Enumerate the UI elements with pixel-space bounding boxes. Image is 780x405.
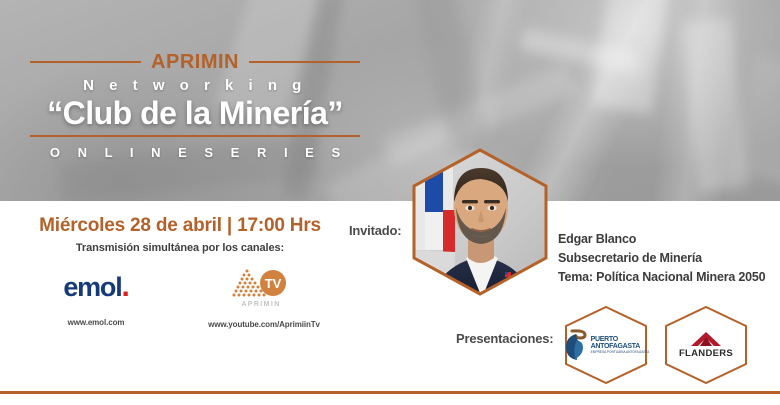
puerto-antofagasta-logo-icon: PUERTO ANTOFAGASTA EMPRESA PORTUARIA ANT… xyxy=(563,328,650,362)
guest-role: Subsecretario de Minería xyxy=(558,249,765,268)
aprimin-tv-logo-icon: TV APRIMIN xyxy=(221,266,307,310)
sponsor-logo-wrap: FLANDERS xyxy=(662,305,750,385)
sponsor-list: PUERTO ANTOFAGASTA EMPRESA PORTUARIA ANT… xyxy=(562,305,750,385)
sponsor-logo-wrap: PUERTO ANTOFAGASTA EMPRESA PORTUARIA ANT… xyxy=(562,305,650,385)
simulcast-note: Transmisión simultánea por los canales: xyxy=(0,242,360,254)
brand-row: APRIMIN xyxy=(30,52,360,72)
aprimin-tv-url[interactable]: www.youtube.com/AprimiinTv xyxy=(208,320,320,329)
guest-topic: Tema: Política Nacional Minera 2050 xyxy=(558,268,765,287)
bottom-accent-rule xyxy=(0,391,780,394)
brand-rule-left xyxy=(30,61,141,63)
header-kicker: N e t w o r k i n g xyxy=(30,78,360,95)
guest-label: Invitado: xyxy=(349,223,401,238)
guest-info: Edgar Blanco Subsecretario de Minería Te… xyxy=(558,230,765,286)
event-details-panel: Miércoles 28 de abril | 17:00 Hrs Transm… xyxy=(0,215,360,329)
emol-url[interactable]: www.emol.com xyxy=(68,318,125,327)
header-subtitle: O N L I N E S E R I E S xyxy=(30,145,360,160)
svg-text:APRIMIN: APRIMIN xyxy=(241,301,280,308)
portrait-photo xyxy=(404,146,556,298)
channel-list: emol. www.emol.com xyxy=(0,266,360,329)
flanders-wordmark: FLANDERS xyxy=(679,348,733,359)
event-date-time: Miércoles 28 de abril | 17:00 Hrs xyxy=(0,215,360,237)
channel-emol[interactable]: emol. www.emol.com xyxy=(36,266,156,327)
presentations-label: Presentaciones: xyxy=(456,331,553,346)
channel-aprimin-tv[interactable]: TV APRIMIN www.youtube.com/AprimiinTv xyxy=(204,266,324,329)
aprimin-logo-icon: APRIMIN xyxy=(151,52,239,72)
flanders-logo-icon: FLANDERS xyxy=(679,331,733,359)
sponsor-line-2: ANTOFAGASTA xyxy=(591,343,650,350)
title-block: APRIMIN N e t w o r k i n g “Club de la … xyxy=(30,52,360,160)
sponsor-puerto-antofagasta[interactable]: PUERTO ANTOFAGASTA EMPRESA PORTUARIA ANT… xyxy=(562,305,650,385)
sponsor-flanders[interactable]: FLANDERS xyxy=(662,305,750,385)
emol-logo-text: emol xyxy=(63,274,121,301)
event-banner: APRIMIN N e t w o r k i n g “Club de la … xyxy=(0,0,780,405)
page-title: “Club de la Minería” xyxy=(30,96,360,132)
sponsor-line-3: EMPRESA PORTUARIA ANTOFAGASTA xyxy=(591,351,650,354)
emol-wordmark-icon: emol. xyxy=(63,266,128,308)
title-underline xyxy=(30,135,360,137)
guest-portrait-hexagon xyxy=(404,146,556,298)
emol-dot-icon: . xyxy=(122,272,129,302)
puerto-antofagasta-wordmark: PUERTO ANTOFAGASTA EMPRESA PORTUARIA ANT… xyxy=(591,336,650,354)
brand-rule-right xyxy=(249,61,360,63)
guest-name: Edgar Blanco xyxy=(558,230,765,249)
svg-text:TV: TV xyxy=(265,276,282,291)
sponsor-line-1: PUERTO xyxy=(591,336,650,343)
